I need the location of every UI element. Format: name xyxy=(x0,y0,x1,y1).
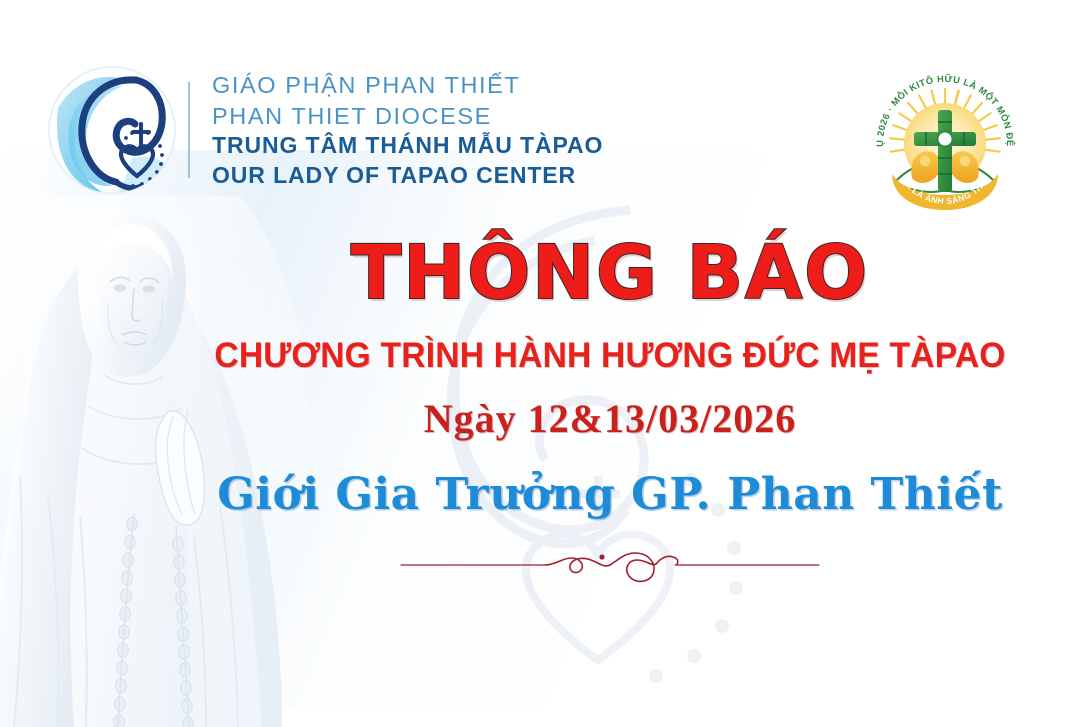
announcement-title: THÔNG BÁO xyxy=(170,236,1050,310)
program-subtitle: CHƯƠNG TRÌNH HÀNH HƯƠNG ĐỨC MẸ TÀPAO xyxy=(188,336,1033,376)
diocese-logo-icon xyxy=(44,62,180,198)
header-brand: GIÁO PHẬN PHAN THIẾT PHAN THIET DIOCESE … xyxy=(44,62,603,198)
brand-divider xyxy=(188,82,190,178)
pastoral-year-emblem-icon: NĂM MỤC VỤ 2026 · MỖI KITÔ HỮU LÀ MỘT MÔ… xyxy=(862,52,1028,222)
diocese-name-en: PHAN THIET DIOCESE xyxy=(212,101,603,132)
event-date: Ngày 12&13/03/2026 xyxy=(170,395,1050,442)
pilgrim-group-name: Giới Gia Trưởng GP. Phan Thiết xyxy=(170,469,1050,520)
announcement-poster: GIÁO PHẬN PHAN THIẾT PHAN THIET DIOCESE … xyxy=(0,0,1080,727)
center-name-vi: TRUNG TÂM THÁNH MẪU TÀPAO xyxy=(212,131,603,160)
flourish-divider-icon xyxy=(395,542,825,588)
announcement-block: THÔNG BÁO CHƯƠNG TRÌNH HÀNH HƯƠNG ĐỨC MẸ… xyxy=(170,236,1050,588)
brand-text-block: GIÁO PHẬN PHAN THIẾT PHAN THIET DIOCESE … xyxy=(212,70,603,190)
center-name-en: OUR LADY OF TAPAO CENTER xyxy=(212,161,603,190)
diocese-name-vi: GIÁO PHẬN PHAN THIẾT xyxy=(212,70,603,101)
